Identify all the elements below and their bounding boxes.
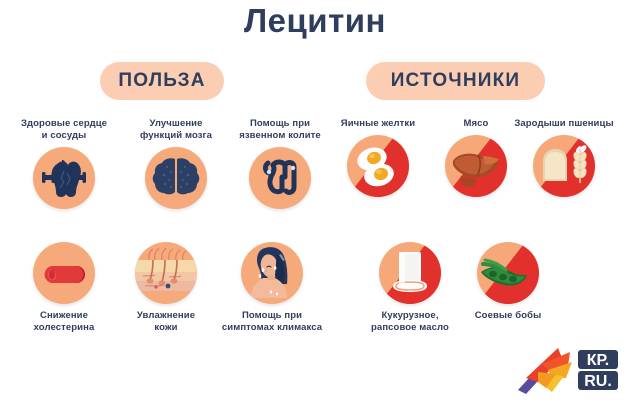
benefit-item-heart: Здоровые сердце и сосуды xyxy=(12,118,116,209)
benefit-label-brain-line2: функций мозга xyxy=(124,130,228,142)
liver-meat-icon xyxy=(445,135,507,197)
kp-ru-logo-line1: КР. xyxy=(587,352,609,369)
source-item-oil: Кукурузное, рапсовое масло xyxy=(358,242,462,334)
benefit-label-cholesterol: Снижение холестерина xyxy=(12,310,116,334)
source-label-oil: Кукурузное, рапсовое масло xyxy=(358,310,462,334)
benefit-item-skin: Увлажнение кожи xyxy=(114,242,218,334)
section-header-benefits-label: ПОЛЬЗА xyxy=(118,70,205,92)
benefit-label-menopause-line2: симптомах климакса xyxy=(220,322,324,334)
egg-yolk-icon xyxy=(347,135,409,197)
wheat-germ-icon xyxy=(533,135,595,197)
benefit-label-skin-line2: кожи xyxy=(114,322,218,334)
heart-icon xyxy=(33,147,95,209)
woman-icon xyxy=(241,242,303,304)
source-label-egg-yolk: Яичные желтки xyxy=(326,118,430,130)
benefit-item-cholesterol: Снижение холестерина xyxy=(12,242,116,334)
skin-layers-icon xyxy=(135,242,197,304)
intestine-icon xyxy=(249,147,311,209)
benefit-label-menopause-line1: Помощь при xyxy=(220,310,324,322)
benefit-item-brain: Улучшение функций мозга xyxy=(124,118,228,209)
oil-bottle-icon xyxy=(379,242,441,304)
source-label-wheat-germ: Зародыши пшеницы xyxy=(512,118,616,130)
section-header-benefits: ПОЛЬЗА xyxy=(100,62,224,100)
kp-ru-wordmark: КР. RU. xyxy=(578,350,618,390)
source-label-wheat-germ-line1: Зародыши пшеницы xyxy=(512,118,616,130)
page-title: Лецитин xyxy=(0,2,630,40)
kp-ru-logo-line2: RU. xyxy=(584,373,612,390)
benefit-item-colitis: Помощь при язвенном колите xyxy=(228,118,332,209)
benefit-label-colitis-line1: Помощь при xyxy=(228,118,332,130)
kp-bird-mark xyxy=(518,348,572,394)
blood-vessel-icon xyxy=(33,242,95,304)
kp-ru-logo[interactable]: КР. RU. xyxy=(512,344,622,396)
brain-icon xyxy=(145,147,207,209)
source-label-oil-line2: рапсовое масло xyxy=(358,322,462,334)
source-label-oil-line1: Кукурузное, xyxy=(358,310,462,322)
benefit-label-skin: Увлажнение кожи xyxy=(114,310,218,334)
benefit-label-brain-line1: Улучшение xyxy=(124,118,228,130)
benefit-label-heart: Здоровые сердце и сосуды xyxy=(12,118,116,142)
section-header-sources: ИСТОЧНИКИ xyxy=(366,62,545,100)
lecithin-infographic: Лецитин ПОЛЬЗА ИСТОЧНИКИ Здоровые сердце… xyxy=(0,0,630,411)
benefit-label-menopause: Помощь при симптомах климакса xyxy=(220,310,324,334)
soybean-icon xyxy=(477,242,539,304)
benefit-label-colitis: Помощь при язвенном колите xyxy=(228,118,332,142)
source-label-soybean-line1: Соевые бобы xyxy=(456,310,560,322)
section-header-sources-label: ИСТОЧНИКИ xyxy=(391,70,521,92)
source-item-wheat-germ: Зародыши пшеницы xyxy=(512,118,616,197)
source-item-soybean: Соевые бобы xyxy=(456,242,560,322)
benefit-label-heart-line2: и сосуды xyxy=(12,130,116,142)
benefit-label-colitis-line2: язвенном колите xyxy=(228,130,332,142)
benefit-label-heart-line1: Здоровые сердце xyxy=(12,118,116,130)
source-label-egg-yolk-line1: Яичные желтки xyxy=(326,118,430,130)
source-item-egg-yolk: Яичные желтки xyxy=(326,118,430,197)
benefit-label-brain: Улучшение функций мозга xyxy=(124,118,228,142)
benefit-item-menopause: Помощь при симптомах климакса xyxy=(220,242,324,334)
benefit-label-cholesterol-line1: Снижение xyxy=(12,310,116,322)
benefit-label-skin-line1: Увлажнение xyxy=(114,310,218,322)
benefit-label-cholesterol-line2: холестерина xyxy=(12,322,116,334)
source-label-soybean: Соевые бобы xyxy=(456,310,560,322)
